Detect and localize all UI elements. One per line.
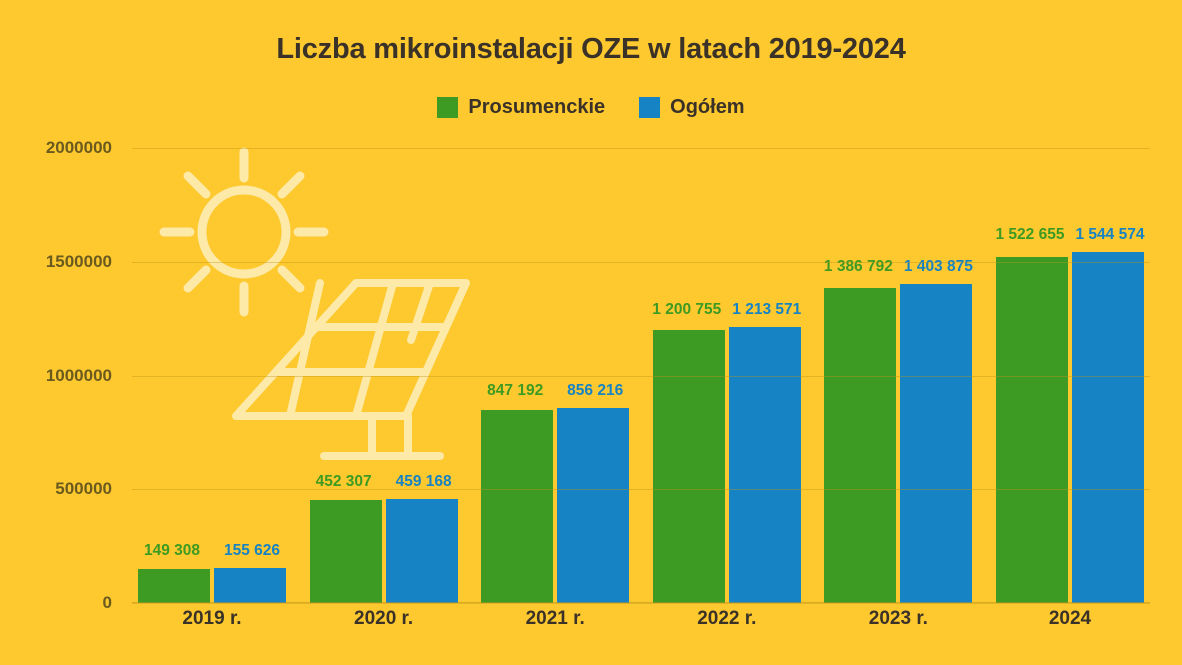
bar[interactable] xyxy=(729,327,801,603)
legend-swatch-green-icon xyxy=(437,97,458,118)
y-axis-tick-label: 0 xyxy=(103,593,112,613)
bar[interactable] xyxy=(824,288,896,603)
bar[interactable] xyxy=(386,499,458,603)
bar[interactable] xyxy=(996,257,1068,603)
bar[interactable] xyxy=(900,284,972,603)
y-axis-tick-label: 1000000 xyxy=(46,366,112,386)
plot-area: 149 308155 626452 307459 168847 192856 2… xyxy=(132,148,1150,603)
bar-chart: Liczba mikroinstalacji OZE w latach 2019… xyxy=(0,0,1182,665)
x-axis-tick-label: 2023 r. xyxy=(818,608,978,630)
bar[interactable] xyxy=(653,330,725,603)
bar[interactable] xyxy=(310,500,382,603)
bar[interactable] xyxy=(214,568,286,603)
gridline xyxy=(132,376,1150,377)
bar[interactable] xyxy=(138,569,210,603)
chart-legend: Prosumenckie Ogółem xyxy=(0,96,1182,119)
legend-item-prosumenckie[interactable]: Prosumenckie xyxy=(437,96,605,119)
gridline xyxy=(132,262,1150,263)
chart-title: Liczba mikroinstalacji OZE w latach 2019… xyxy=(0,33,1182,66)
x-axis-tick-label: 2024 xyxy=(990,608,1150,630)
legend-item-ogolem[interactable]: Ogółem xyxy=(639,96,744,119)
x-axis-baseline xyxy=(132,602,1150,603)
x-axis-tick-label: 2020 r. xyxy=(304,608,464,630)
gridline xyxy=(132,489,1150,490)
x-axis: 2019 r.2020 r.2021 r.2022 r.2023 r.2024 xyxy=(132,608,1150,630)
y-axis-tick-label: 2000000 xyxy=(46,138,112,158)
legend-swatch-blue-icon xyxy=(639,97,660,118)
gridline xyxy=(132,603,1150,604)
legend-label-prosumenckie: Prosumenckie xyxy=(468,96,605,119)
bar[interactable] xyxy=(1072,252,1144,603)
gridline xyxy=(132,148,1150,149)
y-axis-tick-label: 500000 xyxy=(55,479,112,499)
y-axis-tick-label: 1500000 xyxy=(46,252,112,272)
bar[interactable] xyxy=(481,410,553,603)
x-axis-tick-label: 2022 r. xyxy=(647,608,807,630)
y-axis: 0500000100000015000002000000 xyxy=(0,148,120,603)
x-axis-tick-label: 2021 r. xyxy=(475,608,635,630)
bar[interactable] xyxy=(557,408,629,603)
x-axis-tick-label: 2019 r. xyxy=(132,608,292,630)
legend-label-ogolem: Ogółem xyxy=(670,96,744,119)
